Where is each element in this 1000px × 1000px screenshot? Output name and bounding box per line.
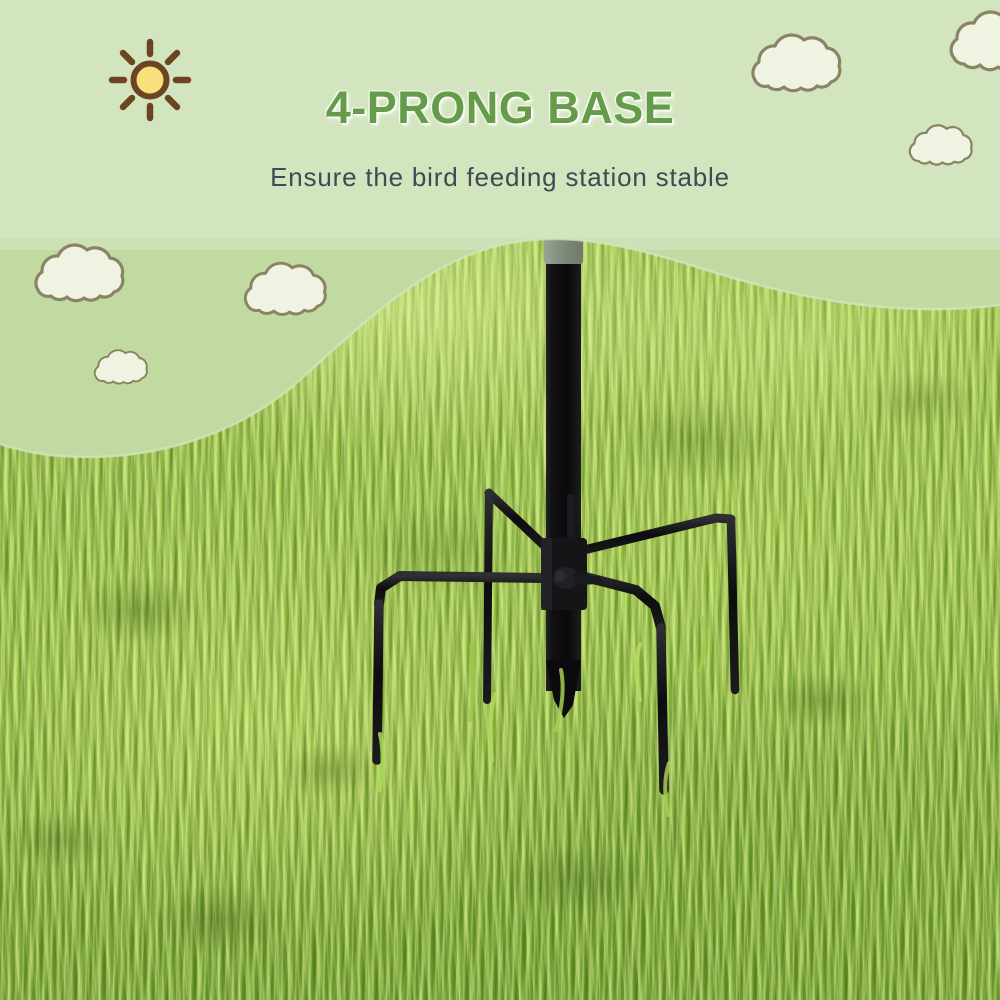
cloud-mid-left (245, 263, 325, 314)
page-subtitle: Ensure the bird feeding station stable (0, 162, 1000, 193)
prong-arm-front-left (377, 576, 545, 760)
page-title: 4-PRONG BASE (0, 82, 1000, 134)
feature-banner: 4-PRONG BASE Ensure the bird feeding sta… (0, 0, 1000, 1000)
cloud-top-right-edge (951, 12, 1000, 70)
grass-foreground-blades (380, 618, 705, 815)
cloud-left-large (36, 245, 123, 301)
cloud-lower-left-small (95, 350, 147, 383)
